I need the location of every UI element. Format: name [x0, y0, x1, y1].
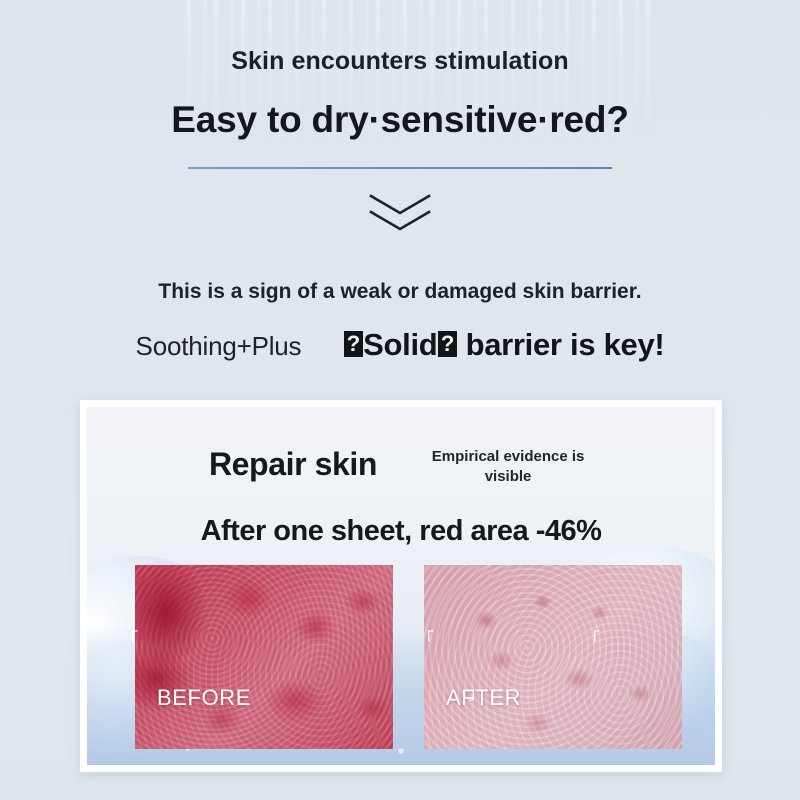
before-skin-texture [135, 565, 393, 749]
evidence-note: Empirical evidence is visible [423, 443, 593, 486]
hero-divider [188, 167, 612, 169]
results-card-inner: Repair skin Empirical evidence is visibl… [87, 407, 715, 765]
before-label: BEFORE [157, 685, 251, 711]
barrier-claim-word: Solid [363, 327, 437, 362]
after-skin-texture [424, 565, 682, 749]
page-background: Skin encounters stimulation Easy to dry·… [0, 0, 800, 800]
hero-kicker: Skin encounters stimulation [0, 48, 800, 76]
after-label: AFTER [446, 685, 521, 711]
barrier-claim-label: Solid barrier is key! [343, 327, 664, 363]
before-photo: BEFORE [135, 565, 393, 749]
results-card: Repair skin Empirical evidence is visibl… [80, 400, 722, 772]
hero-section: Skin encounters stimulation Easy to dry·… [0, 48, 800, 235]
hero-headline: Easy to dry·sensitive·red? [0, 100, 800, 141]
barrier-subtext: This is a sign of a weak or damaged skin… [0, 280, 800, 304]
card-title: Repair skin [209, 446, 377, 483]
after-photo: AFTER [424, 565, 682, 749]
double-chevron-down-icon [365, 191, 435, 235]
barrier-claim-suffix: barrier is key! [457, 327, 664, 362]
brand-claim-label: Soothing+Plus [136, 331, 302, 362]
claim-row: Soothing+Plus Solid barrier is key! [0, 327, 800, 363]
missing-glyph-close-icon [438, 331, 457, 357]
result-line: After one sheet, red area -46% [87, 515, 715, 548]
missing-glyph-open-icon [344, 331, 363, 357]
card-header: Repair skin Empirical evidence is visibl… [87, 443, 715, 486]
